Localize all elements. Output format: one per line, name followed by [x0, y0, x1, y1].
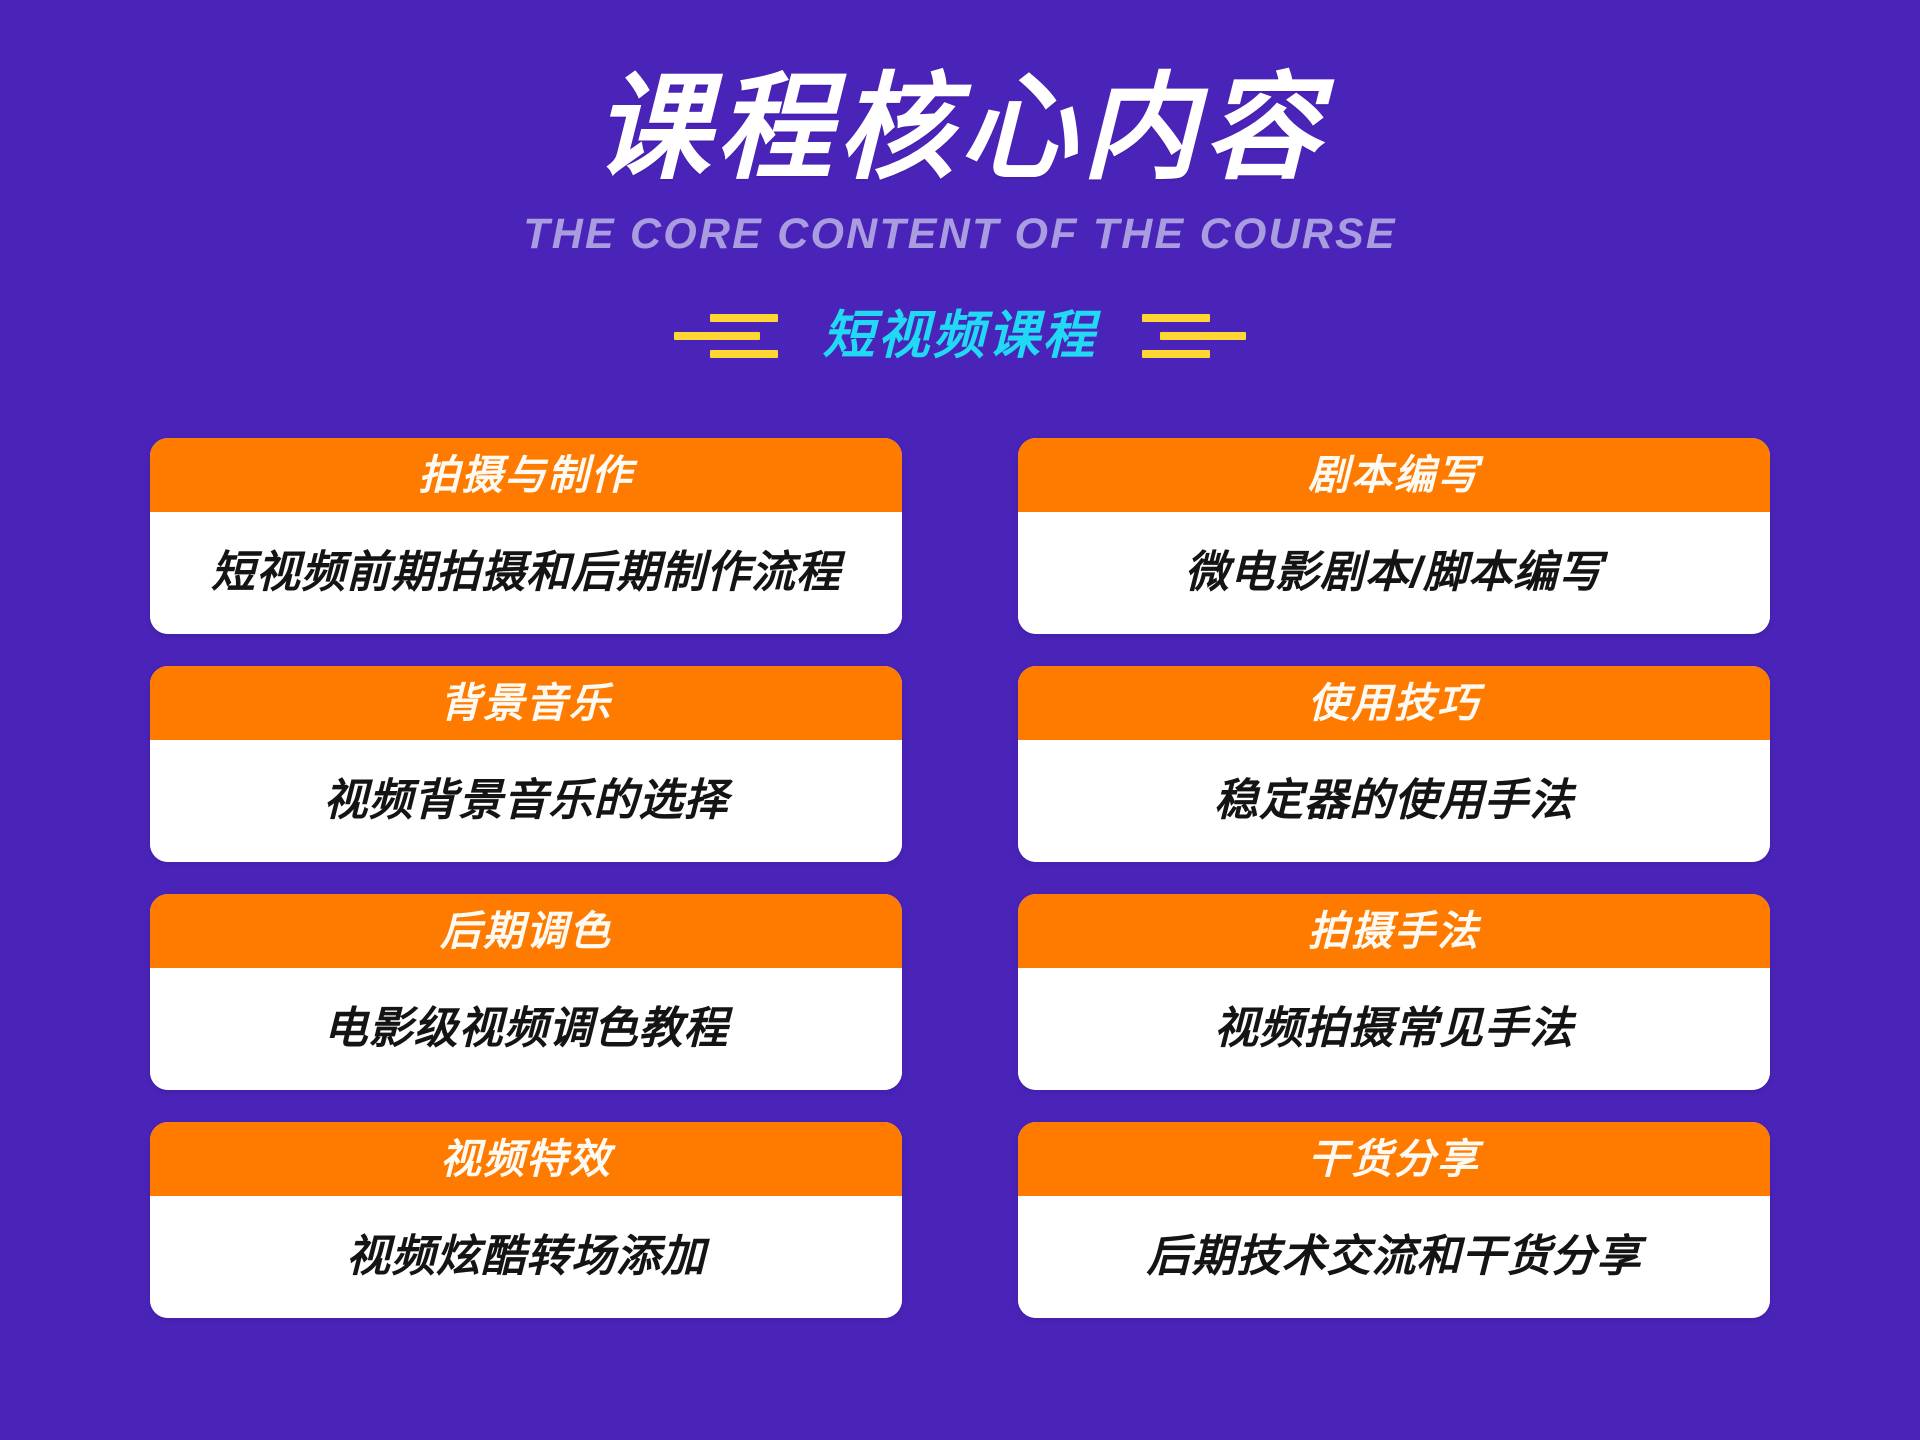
course-card-body: 稳定器的使用手法 [1018, 740, 1770, 862]
course-card[interactable]: 使用技巧 稳定器的使用手法 [1018, 666, 1770, 862]
course-card-header: 视频特效 [150, 1122, 902, 1196]
course-card-description: 稳定器的使用手法 [1214, 776, 1574, 827]
page-subtitle: THE CORE CONTENT OF THE COURSE [0, 211, 1920, 258]
decoration-lines-right-icon [1142, 306, 1246, 366]
course-card-grid: 拍摄与制作 短视频前期拍摄和后期制作流程 剧本编写 微电影剧本/脚本编写 背景音… [150, 438, 1770, 1318]
course-card-body: 后期技术交流和干货分享 [1018, 1196, 1770, 1318]
course-card-description: 电影级视频调色教程 [324, 1004, 729, 1055]
course-card[interactable]: 后期调色 电影级视频调色教程 [150, 894, 902, 1090]
course-card[interactable]: 拍摄与制作 短视频前期拍摄和后期制作流程 [150, 438, 902, 634]
course-card-description: 视频拍摄常见手法 [1214, 1004, 1574, 1055]
course-card-description: 视频炫酷转场添加 [346, 1232, 706, 1283]
course-card-body: 视频炫酷转场添加 [150, 1196, 902, 1318]
page-title: 课程核心内容 [0, 60, 1920, 197]
course-card-body: 微电影剧本/脚本编写 [1018, 512, 1770, 634]
decoration-lines-left-icon [674, 306, 778, 366]
decoration-bar [1142, 314, 1210, 322]
course-card-header: 后期调色 [150, 894, 902, 968]
course-card-title: 使用技巧 [1308, 683, 1480, 724]
decoration-bar [674, 332, 760, 340]
decoration-bar [710, 350, 778, 358]
course-card-header: 使用技巧 [1018, 666, 1770, 740]
decoration-bar [1142, 350, 1210, 358]
course-card-header: 剧本编写 [1018, 438, 1770, 512]
course-card[interactable]: 干货分享 后期技术交流和干货分享 [1018, 1122, 1770, 1318]
category-badge: 短视频课程 [822, 310, 1097, 362]
course-card-header: 干货分享 [1018, 1122, 1770, 1196]
course-card[interactable]: 剧本编写 微电影剧本/脚本编写 [1018, 438, 1770, 634]
badge-row: 短视频课程 [0, 306, 1920, 366]
course-card-description: 后期技术交流和干货分享 [1147, 1232, 1642, 1283]
course-card[interactable]: 视频特效 视频炫酷转场添加 [150, 1122, 902, 1318]
course-card-title: 后期调色 [440, 911, 612, 952]
course-card-body: 视频拍摄常见手法 [1018, 968, 1770, 1090]
decoration-bar [1160, 332, 1246, 340]
course-card-title: 视频特效 [440, 1139, 612, 1180]
course-card-header: 拍摄手法 [1018, 894, 1770, 968]
course-card-description: 视频背景音乐的选择 [324, 776, 729, 827]
course-card-body: 电影级视频调色教程 [150, 968, 902, 1090]
course-card-header: 背景音乐 [150, 666, 902, 740]
course-card-description: 微电影剧本/脚本编写 [1185, 548, 1603, 599]
course-card-description: 短视频前期拍摄和后期制作流程 [211, 548, 841, 599]
course-card-title: 干货分享 [1308, 1139, 1480, 1180]
course-card-header: 拍摄与制作 [150, 438, 902, 512]
course-card-body: 短视频前期拍摄和后期制作流程 [150, 512, 902, 634]
course-card-title: 拍摄与制作 [419, 455, 634, 496]
course-card-title: 背景音乐 [440, 683, 612, 724]
course-card[interactable]: 背景音乐 视频背景音乐的选择 [150, 666, 902, 862]
course-card-body: 视频背景音乐的选择 [150, 740, 902, 862]
poster-header: 课程核心内容 THE CORE CONTENT OF THE COURSE 短视… [0, 0, 1920, 366]
course-card-title: 剧本编写 [1308, 455, 1480, 496]
decoration-bar [710, 314, 778, 322]
course-content-poster: 课程核心内容 THE CORE CONTENT OF THE COURSE 短视… [0, 0, 1920, 1440]
course-card-title: 拍摄手法 [1308, 911, 1480, 952]
course-card[interactable]: 拍摄手法 视频拍摄常见手法 [1018, 894, 1770, 1090]
